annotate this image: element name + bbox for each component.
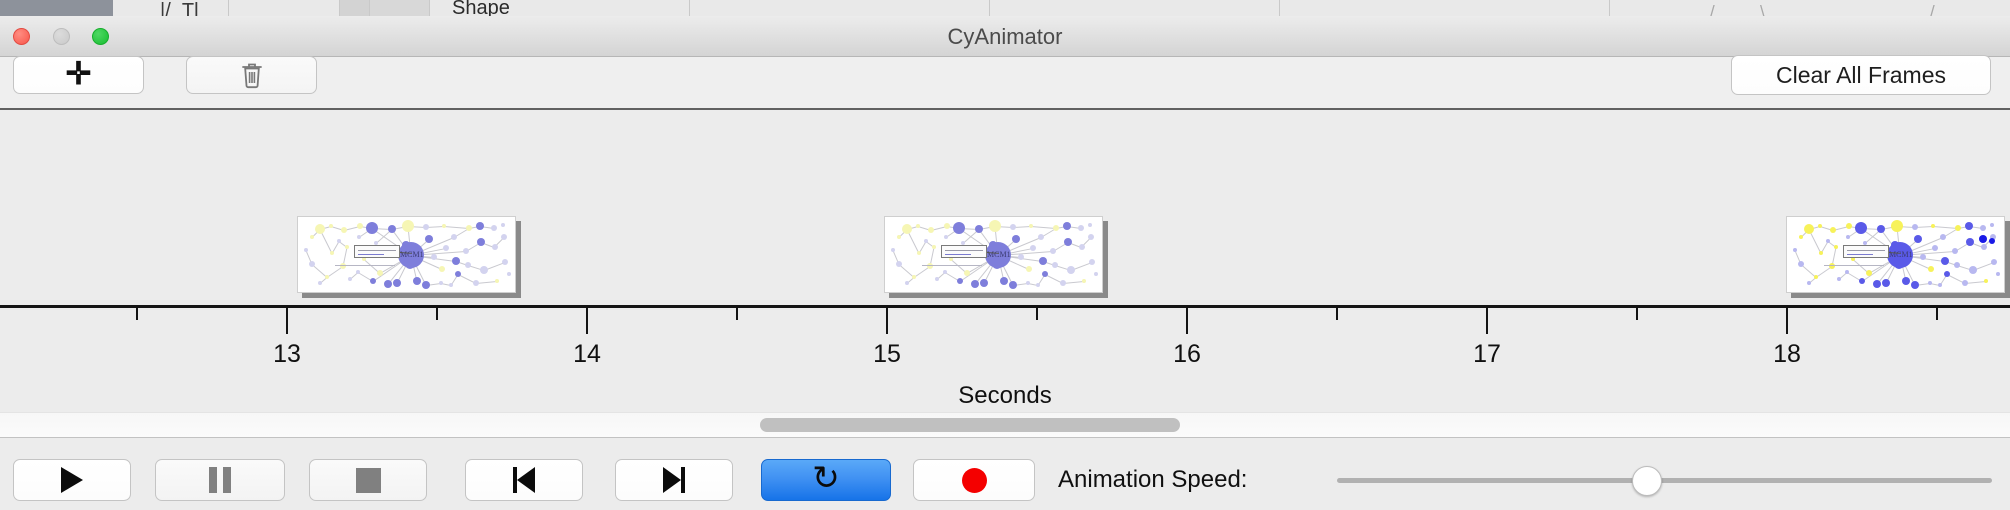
graph-node — [1818, 224, 1822, 228]
graph-node — [1928, 266, 1934, 272]
graph-node — [1866, 270, 1872, 276]
network-graph-canvas: MCM1 — [884, 216, 1103, 293]
graph-node — [916, 224, 920, 228]
graph-node — [1799, 235, 1803, 239]
graph-node — [980, 279, 988, 287]
graph-node — [1902, 277, 1910, 285]
background-window — [370, 0, 430, 16]
graph-node — [466, 225, 472, 231]
graph-annotation-box — [354, 245, 400, 258]
axis-tick-label: 13 — [273, 340, 301, 369]
graph-node — [442, 224, 446, 228]
graph-node — [1804, 224, 1814, 234]
graph-node — [896, 261, 902, 267]
graph-node — [357, 235, 361, 239]
graph-node — [1038, 234, 1044, 240]
axis-tick-minor — [436, 308, 438, 320]
graph-node — [309, 261, 315, 267]
record-icon — [962, 468, 987, 493]
frame-thumbnail[interactable]: MCM1 — [1786, 216, 2010, 298]
graph-node — [1018, 254, 1024, 260]
graph-node — [1088, 223, 1092, 227]
graph-node — [1928, 281, 1932, 285]
graph-node — [1026, 266, 1032, 272]
axis-tick-label: 14 — [573, 340, 601, 369]
graph-node — [491, 225, 497, 231]
loop-button[interactable]: ↻ — [761, 459, 891, 501]
axis-tick-major — [586, 308, 588, 334]
graph-node — [1981, 244, 1987, 250]
graph-node — [1079, 244, 1085, 250]
clear-all-frames-button[interactable]: Clear All Frames — [1731, 55, 1991, 95]
axis-tick-label: 16 — [1173, 340, 1201, 369]
graph-node — [315, 224, 325, 234]
graph-node — [1026, 281, 1030, 285]
timeline-axis — [0, 305, 2010, 308]
graph-node — [1846, 223, 1852, 229]
background-shape-label: Shape — [452, 0, 510, 16]
axis-tick-major — [1186, 308, 1188, 334]
graph-node — [402, 220, 414, 232]
annotation-text-line — [358, 254, 384, 255]
graph-node-highlighted — [1989, 238, 1995, 244]
graph-node — [1952, 248, 1958, 254]
pause-button[interactable] — [155, 459, 285, 501]
axis-tick-major — [886, 308, 888, 334]
background-window — [1610, 0, 2010, 16]
graph-node — [366, 222, 378, 234]
timeline-scrollbar-thumb[interactable] — [760, 418, 1180, 432]
graph-node — [1094, 272, 1098, 276]
axis-tick-minor — [736, 308, 738, 320]
graph-node — [1829, 263, 1835, 269]
axis-tick-label: 17 — [1473, 340, 1501, 369]
graph-annotation-box — [941, 245, 987, 258]
trash-icon — [240, 61, 264, 89]
graph-node — [356, 270, 360, 274]
graph-node — [304, 248, 308, 252]
graph-node — [439, 281, 443, 285]
graph-node — [1920, 254, 1926, 260]
skip-to-start-button[interactable] — [465, 459, 583, 501]
graph-edge — [1965, 281, 1986, 284]
graph-edge — [476, 281, 497, 284]
graph-node — [1891, 220, 1903, 232]
graph-node — [1940, 234, 1946, 240]
graph-node — [1050, 248, 1056, 254]
graph-node — [1882, 279, 1890, 287]
titlebar: CyAnimator — [0, 16, 2010, 57]
graph-node — [912, 275, 916, 279]
stop-button[interactable] — [309, 459, 427, 501]
graph-node — [502, 259, 508, 265]
graph-node — [1912, 224, 1918, 230]
graph-caption-text — [922, 265, 982, 266]
graph-node — [1965, 222, 1973, 230]
graph-node — [431, 254, 437, 260]
skip-to-end-icon — [663, 467, 685, 493]
graph-node — [357, 223, 363, 229]
graph-node — [1000, 277, 1008, 285]
graph-node — [944, 223, 950, 229]
graph-node — [476, 222, 484, 230]
graph-node — [1830, 227, 1836, 233]
graph-node — [1996, 272, 2000, 276]
graph-node — [1078, 225, 1084, 231]
graph-node — [975, 225, 983, 233]
axis-tick-minor — [1336, 308, 1338, 320]
graph-node — [1826, 239, 1830, 243]
graph-node — [1042, 271, 1048, 277]
record-button[interactable] — [913, 459, 1035, 501]
graph-node — [1941, 257, 1949, 265]
graph-node — [1088, 234, 1094, 240]
network-graph-canvas: MCM1 — [297, 216, 516, 293]
axis-tick-major — [286, 308, 288, 334]
axis-tick-label: 15 — [873, 340, 901, 369]
background-window — [340, 0, 370, 16]
graph-node — [393, 279, 401, 287]
graph-node — [1938, 283, 1942, 287]
graph-node — [1793, 248, 1797, 252]
graph-node — [1798, 261, 1804, 267]
graph-node — [891, 248, 895, 252]
graph-node — [384, 280, 392, 288]
graph-node — [329, 224, 333, 228]
play-button[interactable] — [13, 459, 131, 501]
clear-all-frames-label: Clear All Frames — [1776, 62, 1946, 89]
axis-tick-major — [1786, 308, 1788, 334]
background-dark-panel — [0, 0, 113, 16]
axis-tick-minor — [1036, 308, 1038, 320]
graph-node — [917, 251, 921, 255]
axis-tick-minor — [136, 308, 138, 320]
animation-speed-slider-thumb[interactable] — [1632, 466, 1662, 496]
background-window — [1280, 0, 1610, 16]
graph-node — [377, 270, 383, 276]
graph-node — [1944, 271, 1950, 277]
background-window — [990, 0, 1280, 16]
graph-node — [507, 272, 511, 276]
graph-node — [1029, 224, 1033, 228]
graph-node-highlighted — [1979, 235, 1987, 243]
graph-node — [465, 262, 471, 268]
graph-caption-text — [335, 265, 395, 266]
graph-node — [463, 248, 469, 254]
graph-node — [455, 271, 461, 277]
graph-node — [1980, 225, 1986, 231]
skip-to-end-button[interactable] — [615, 459, 733, 501]
graph-node — [935, 277, 939, 281]
graph-node — [495, 279, 499, 283]
graph-node — [1911, 281, 1919, 289]
window-title: CyAnimator — [0, 16, 2010, 57]
annotation-text-line — [1847, 254, 1873, 255]
delete-frame-button[interactable] — [186, 56, 317, 94]
graph-node — [1931, 224, 1935, 228]
animation-speed-label: Animation Speed: — [1058, 459, 1247, 501]
annotation-text-line — [358, 250, 396, 251]
graph-node — [1052, 262, 1058, 268]
graph-node — [370, 278, 376, 284]
graph-node — [943, 270, 947, 274]
animation-speed-slider-track[interactable] — [1337, 478, 1992, 483]
graph-node — [927, 263, 933, 269]
graph-node — [1932, 245, 1938, 251]
graph-annotation-box — [1843, 245, 1889, 258]
graph-node — [425, 235, 433, 243]
graph-node — [1039, 257, 1047, 265]
graph-node — [1834, 245, 1838, 249]
graph-node — [1969, 266, 1977, 274]
graph-node — [388, 225, 396, 233]
add-frame-button[interactable]: ✛ — [13, 56, 144, 94]
graph-node — [897, 235, 901, 239]
axis-title: Seconds — [0, 382, 2010, 410]
graph-node — [905, 281, 909, 285]
graph-node — [1873, 280, 1881, 288]
graph-node — [1984, 279, 1988, 283]
skip-to-start-icon — [513, 467, 535, 493]
graph-node — [452, 257, 460, 265]
graph-node — [439, 266, 445, 272]
graph-node — [422, 281, 430, 289]
graph-node — [1855, 222, 1867, 234]
graph-node — [1845, 270, 1849, 274]
background-windows-strip: |/ Tl Shape / \ / — [0, 0, 2010, 16]
graph-edge — [1063, 281, 1084, 284]
graph-node — [1954, 262, 1960, 268]
graph-node — [944, 235, 948, 239]
graph-node — [989, 220, 1001, 232]
graph-node — [473, 280, 479, 286]
graph-node — [1991, 259, 1997, 265]
graph-node — [413, 277, 421, 285]
graph-node — [1082, 279, 1086, 283]
graph-node — [1846, 235, 1850, 239]
loop-icon: ↻ — [812, 461, 840, 494]
axis-tick-major — [1486, 308, 1488, 334]
graph-node — [501, 223, 505, 227]
background-window — [690, 0, 990, 16]
graph-node — [501, 234, 507, 240]
graph-node — [924, 239, 928, 243]
stop-icon — [356, 468, 381, 493]
graph-node — [492, 244, 498, 250]
graph-node — [1962, 280, 1968, 286]
graph-node — [1990, 223, 1994, 227]
graph-node — [1859, 278, 1865, 284]
graph-node — [1837, 277, 1841, 281]
play-icon — [61, 467, 83, 493]
graph-node — [1012, 235, 1020, 243]
annotation-text-line — [1847, 250, 1885, 251]
graph-node — [1067, 266, 1075, 274]
graph-node — [1877, 225, 1885, 233]
graph-node — [1060, 280, 1066, 286]
graph-node — [1063, 222, 1071, 230]
frame-thumbnail[interactable]: MCM1 — [884, 216, 1108, 298]
plus-icon: ✛ — [66, 58, 92, 89]
axis-tick-minor — [1936, 308, 1938, 320]
graph-node — [1053, 225, 1059, 231]
graph-caption-text — [1824, 265, 1884, 266]
graph-node — [310, 235, 314, 239]
graph-node — [932, 245, 936, 249]
graph-node — [345, 245, 349, 249]
graph-node — [449, 283, 453, 287]
network-graph-canvas: MCM1 — [1786, 216, 2005, 293]
graph-node — [1819, 251, 1823, 255]
graph-node — [325, 275, 329, 279]
graph-node — [480, 266, 488, 274]
graph-node — [902, 224, 912, 234]
graph-node — [928, 227, 934, 233]
graph-node — [1955, 225, 1961, 231]
graph-node — [1030, 245, 1036, 251]
graph-node — [451, 234, 457, 240]
cyanimator-window: |/ Tl Shape / \ / CyAnimator ✛ Clear All… — [0, 0, 2010, 510]
graph-node — [953, 222, 965, 234]
axis-tick-minor — [1636, 308, 1638, 320]
axis-tick-label: 18 — [1773, 340, 1801, 369]
annotation-text-line — [945, 250, 983, 251]
graph-node — [477, 238, 485, 246]
graph-node — [423, 224, 429, 230]
graph-node — [348, 277, 352, 281]
graph-node — [341, 227, 347, 233]
frame-thumbnail[interactable]: MCM1 — [297, 216, 521, 298]
graph-node — [443, 245, 449, 251]
graph-node — [340, 263, 346, 269]
graph-node — [971, 280, 979, 288]
graph-node — [1966, 238, 1974, 246]
graph-node — [1010, 224, 1016, 230]
pause-icon — [209, 467, 231, 493]
graph-node — [330, 251, 334, 255]
graph-node — [964, 270, 970, 276]
graph-node — [1089, 259, 1095, 265]
graph-node — [1064, 238, 1072, 246]
graph-node — [1814, 275, 1818, 279]
graph-node — [1036, 283, 1040, 287]
graph-node — [337, 239, 341, 243]
graph-node — [957, 278, 963, 284]
graph-node — [1807, 281, 1811, 285]
background-window — [229, 0, 340, 16]
annotation-text-line — [945, 254, 971, 255]
graph-node — [1914, 235, 1922, 243]
graph-node — [318, 281, 322, 285]
graph-node — [1009, 281, 1017, 289]
